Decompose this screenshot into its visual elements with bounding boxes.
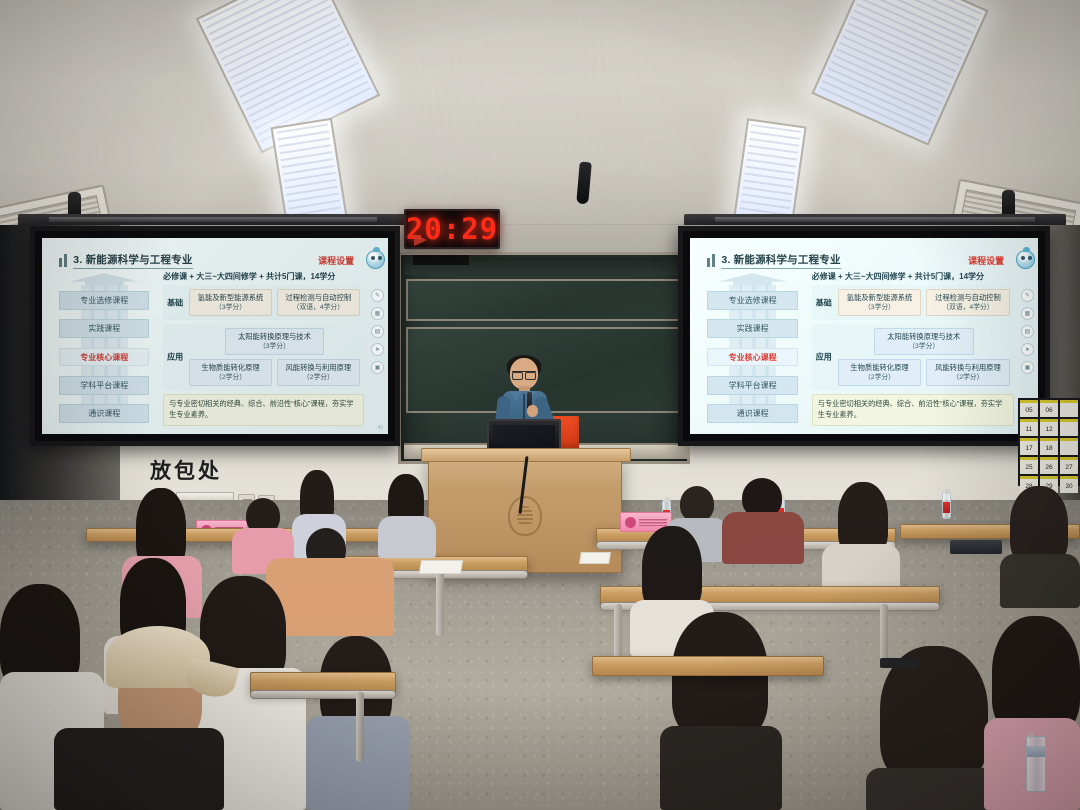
course-name: 太阳能转换原理与技术 — [228, 332, 321, 342]
course-row: 氢能及新型能源系统 （3学分） 过程检测与自动控制 （双语，4学分） — [838, 289, 1010, 316]
calendar-cell: 11 — [1020, 419, 1038, 436]
pillar-item-1: 实践课程 — [59, 319, 149, 338]
course-name: 太阳能转换原理与技术 — [877, 332, 971, 342]
course-name: 风能转换与利用原理 — [280, 363, 357, 373]
slide-body: 必修课 + 大三~大四间修学 + 共计5门课，14学分 基础 氢能及新型能源系统… — [163, 271, 364, 426]
course-group-basic: 基础 氢能及新型能源系统 （3学分） 过程检测与自动控制 （双语，4学分） — [163, 285, 364, 320]
course-group-application: 应用 太阳能转换原理与技术 （3学分） 生物质能转化原理 （2学分） — [812, 324, 1014, 390]
course-credits: （2学分） — [192, 373, 269, 382]
laptop — [950, 540, 1002, 554]
blackboard-mount — [413, 255, 469, 265]
calendar-cell: 17 — [1020, 438, 1038, 455]
bag-storage-sign: 放包处 — [150, 455, 222, 485]
pillar-item-3: 学科平台课程 — [59, 376, 149, 395]
clock-arrow-marker — [414, 234, 427, 246]
student-body — [54, 728, 224, 810]
course-credits: （3学分） — [228, 342, 321, 351]
calendar-cell: 12 — [1040, 419, 1058, 436]
student-body — [1000, 554, 1080, 608]
course-credits: （3学分） — [841, 303, 918, 312]
pointer-icon[interactable]: ➤ — [1021, 343, 1034, 356]
course-name: 过程检测与自动控制 — [280, 293, 357, 303]
wall-calendar: 05 06 11 12 17 18 25 26 27 28 29 30 — [1018, 398, 1080, 486]
course-card: 生物质能转化原理 （2学分） — [189, 359, 272, 386]
course-group-basic: 基础 氢能及新型能源系统 （3学分） 过程检测与自动控制 （双语，4学分） — [812, 285, 1014, 320]
slide-tool-rail: ✎ ▦ ▤ ➤ ▣ — [371, 289, 384, 374]
course-row: 太阳能转换原理与技术 （3学分） — [838, 328, 1010, 355]
calendar-cell: 26 — [1040, 457, 1058, 474]
slide-note: 与专业密切相关的经典、综合、前沿性“核心”课程，夯实学生专业素养。 — [163, 394, 364, 426]
course-row: 生物质能转化原理 （2学分） 风能转换与利用原理 （2学分） — [838, 359, 1010, 386]
slide-tool-rail: ✎ ▦ ▤ ➤ ▣ — [1021, 289, 1034, 374]
slide-title: 3. 新能源科学与工程专业 — [73, 252, 192, 269]
calendar-cell — [1060, 438, 1078, 455]
mascot-icon — [1016, 250, 1035, 269]
pillar-item-2: 专业核心课程 — [707, 348, 797, 367]
course-row: 太阳能转换原理与技术 （3学分） — [189, 328, 360, 355]
course-name: 生物质能转化原理 — [192, 363, 269, 373]
pillar-item-4: 通识课程 — [707, 404, 797, 423]
grid-icon[interactable]: ▦ — [1021, 307, 1034, 320]
calendar-cell: 06 — [1040, 400, 1058, 417]
student-body — [378, 516, 436, 558]
slide-left: 3. 新能源科学与工程专业 课程设置 ✎ ▦ ▤ ➤ ▣ 专业选修课程 实践课程… — [42, 238, 388, 434]
slide-subtitle: 必修课 + 大三~大四间修学 + 共计5门课，14学分 — [812, 271, 1014, 282]
mascot-icon — [366, 250, 385, 269]
course-row: 生物质能转化原理 （2学分） 风能转换与利用原理 （2学分） — [189, 359, 360, 386]
calendar-cell — [1060, 419, 1078, 436]
pointer-icon[interactable]: ➤ — [371, 343, 384, 356]
group-label-application: 应用 — [167, 352, 183, 363]
slide-right: 3. 新能源科学与工程专业 课程设置 ✎ ▦ ▤ ➤ ▣ 专业选修课程 实践课程… — [690, 238, 1038, 434]
course-name: 生物质能转化原理 — [841, 363, 918, 373]
pen-icon[interactable]: ✎ — [1021, 289, 1034, 302]
list-icon[interactable]: ▤ — [371, 325, 384, 338]
course-card: 过程检测与自动控制 （双语，4学分） — [277, 289, 360, 316]
calendar-cell: 27 — [1060, 457, 1078, 474]
student-body — [866, 768, 996, 810]
student-hair — [672, 612, 768, 740]
calendar-cell: 30 — [1060, 476, 1078, 493]
course-credits: （2学分） — [280, 373, 357, 382]
title-bars-icon — [707, 254, 715, 267]
pillar-item-0: 专业选修课程 — [707, 291, 797, 310]
course-card: 风能转换与利用原理 （2学分） — [277, 359, 360, 386]
course-credits: （2学分） — [929, 373, 1006, 382]
projection-screen-right: 3. 新能源科学与工程专业 课程设置 ✎ ▦ ▤ ➤ ▣ 专业选修课程 实践课程… — [678, 226, 1050, 446]
pillar-item-2: 专业核心课程 — [59, 348, 149, 367]
course-group-application: 应用 太阳能转换原理与技术 （3学分） 生物质能转化原理 （2学分） — [163, 324, 364, 390]
desk-leg — [356, 692, 364, 762]
presenter-hand-right — [527, 405, 538, 417]
course-name: 氢能及新型能源系统 — [192, 293, 269, 303]
course-card: 风能转换与利用原理 （2学分） — [926, 359, 1009, 386]
course-card: 生物质能转化原理 （2学分） — [838, 359, 921, 386]
projection-screen-left: 3. 新能源科学与工程专业 课程设置 ✎ ▦ ▤ ➤ ▣ 专业选修课程 实践课程… — [30, 226, 400, 446]
course-card: 太阳能转换原理与技术 （3学分） — [225, 328, 324, 355]
course-name: 过程检测与自动控制 — [929, 293, 1006, 303]
course-name: 风能转换与利用原理 — [929, 363, 1006, 373]
course-credits: （2学分） — [841, 373, 918, 382]
university-emblem — [508, 496, 542, 536]
slide-note: 与专业密切相关的经典、综合、前沿性“核心”课程，夯实学生专业素养。 — [812, 394, 1014, 426]
list-icon[interactable]: ▤ — [1021, 325, 1034, 338]
pillar-item-4: 通识课程 — [59, 404, 149, 423]
student-head — [680, 486, 714, 522]
ceiling — [0, 0, 1080, 232]
course-credits: （双语，4学分） — [280, 303, 357, 312]
course-name: 氢能及新型能源系统 — [841, 293, 918, 303]
title-bars-icon — [59, 254, 67, 267]
calendar-cell: 18 — [1040, 438, 1058, 455]
grid-icon[interactable]: ▦ — [371, 307, 384, 320]
student-body — [660, 726, 782, 810]
phone — [880, 658, 918, 668]
group-label-application: 应用 — [816, 352, 832, 363]
menu-icon[interactable]: ▣ — [371, 361, 384, 374]
course-credits: （3学分） — [192, 303, 269, 312]
paper-sheet — [579, 552, 611, 564]
menu-icon[interactable]: ▣ — [1021, 361, 1034, 374]
blackboard-panel-upper — [406, 279, 688, 321]
group-label-basic: 基础 — [167, 297, 183, 308]
course-card: 氢能及新型能源系统 （3学分） — [838, 289, 921, 316]
paper-sheet — [419, 560, 463, 574]
course-card: 氢能及新型能源系统 （3学分） — [189, 289, 272, 316]
desk-leg — [880, 604, 888, 662]
calendar-cell — [1060, 400, 1078, 417]
student-body — [722, 512, 804, 564]
pillar-item-0: 专业选修课程 — [59, 291, 149, 310]
student-desk — [592, 656, 824, 676]
slide-pillar-menu: 专业选修课程 实践课程 专业核心课程 学科平台课程 通识课程 — [707, 273, 797, 422]
desk-leg — [614, 604, 622, 662]
course-card: 太阳能转换原理与技术 （3学分） — [874, 328, 974, 355]
slide-page-number: 43 — [377, 425, 383, 431]
group-label-basic: 基础 — [816, 297, 832, 308]
classroom-photo: 20:29 3. 新能源科学与工程专业 课程设置 ✎ ▦ ▤ ➤ ▣ 专业选修课… — [0, 0, 1080, 810]
slide-body: 必修课 + 大三~大四间修学 + 共计5门课，14学分 基础 氢能及新型能源系统… — [812, 271, 1014, 426]
course-card: 过程检测与自动控制 （双语，4学分） — [926, 289, 1009, 316]
presenter-glasses — [512, 371, 536, 377]
slide-pillar-menu: 专业选修课程 实践课程 专业核心课程 学科平台课程 通识课程 — [59, 273, 149, 422]
slide-title: 3. 新能源科学与工程专业 — [721, 252, 840, 269]
pillar-item-3: 学科平台课程 — [707, 376, 797, 395]
pillar-item-1: 实践课程 — [707, 319, 797, 338]
course-credits: （3学分） — [877, 342, 971, 351]
led-wall-clock: 20:29 — [404, 209, 500, 249]
desk-rail — [250, 690, 396, 699]
calendar-cell: 05 — [1020, 400, 1038, 417]
desk-leg — [436, 572, 444, 636]
water-bottle — [1026, 736, 1046, 792]
calendar-cell: 25 — [1020, 457, 1038, 474]
notice-icon — [625, 517, 636, 528]
course-row: 氢能及新型能源系统 （3学分） 过程检测与自动控制 （双语，4学分） — [189, 289, 360, 316]
course-credits: （双语，4学分） — [929, 303, 1006, 312]
pen-icon[interactable]: ✎ — [371, 289, 384, 302]
slide-subtitle: 必修课 + 大三~大四间修学 + 共计5门课，14学分 — [163, 271, 364, 282]
water-bottle — [942, 492, 951, 519]
